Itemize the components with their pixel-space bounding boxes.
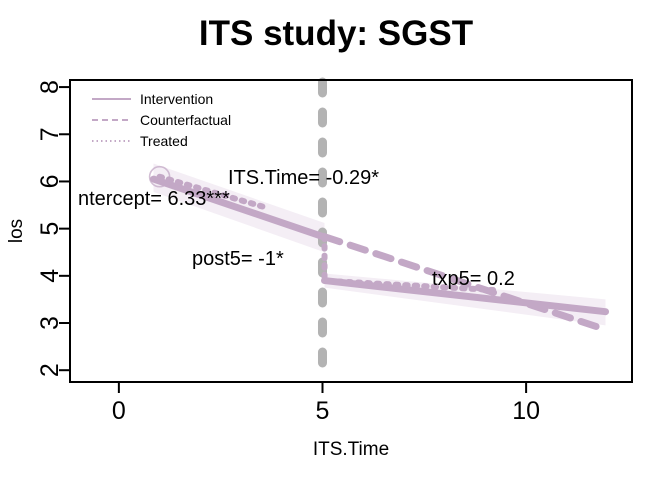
- annotation-label-0: ntercept= 6.33***: [78, 188, 230, 210]
- annotation-label-3: txp5= 0.2: [432, 268, 515, 290]
- legend-label-intervention: Intervention: [140, 91, 213, 107]
- x-tick-label: 10: [512, 397, 540, 425]
- annotation-label-1: ITS.Time= -0.29*: [228, 167, 379, 189]
- y-axis-title: los: [6, 219, 27, 243]
- y-tick-label: 8: [36, 80, 64, 94]
- y-tick-label: 7: [36, 127, 64, 141]
- y-tick-label: 4: [36, 269, 64, 283]
- x-tick-label: 5: [316, 397, 330, 425]
- chart-root: ITS study: SGST 0510 2345678 ITS.Time lo…: [0, 0, 672, 480]
- y-axis-ticks: 2345678: [36, 80, 70, 377]
- y-tick-label: 6: [36, 175, 64, 189]
- its-plot-svg: 0510 2345678 ITS.Time los InterventionCo…: [0, 0, 672, 480]
- x-axis-title: ITS.Time: [313, 439, 389, 460]
- y-tick-label: 3: [36, 316, 64, 330]
- x-axis-ticks: 0510: [112, 382, 540, 425]
- legend-label-treated: Treated: [140, 133, 188, 149]
- y-tick-label: 5: [36, 222, 64, 236]
- y-tick-label: 2: [36, 363, 64, 377]
- legend-label-counterfactual: Counterfactual: [140, 112, 231, 128]
- annotation-label-2: post5= -1*: [192, 248, 284, 270]
- x-tick-label: 0: [112, 397, 126, 425]
